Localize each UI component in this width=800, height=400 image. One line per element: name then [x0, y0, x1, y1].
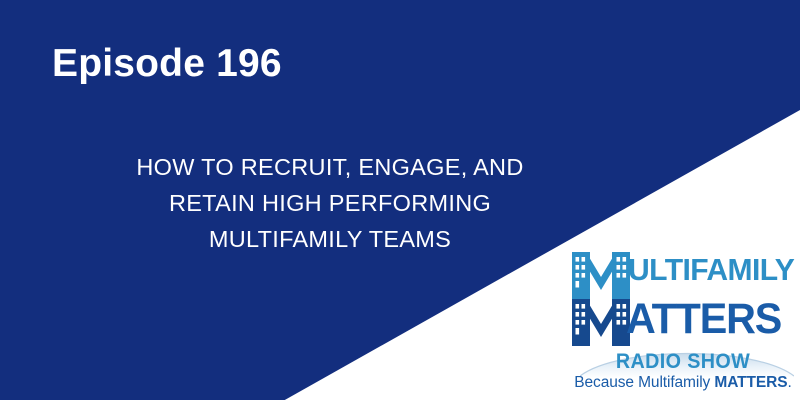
building-m-bottom-icon	[572, 299, 630, 346]
tagline-bold-word: MATTERS	[714, 374, 787, 391]
episode-title-line-3: MULTIFAMILY TEAMS	[40, 222, 620, 258]
building-m-top-icon	[572, 252, 630, 299]
logo-word-matters: ATTERS	[626, 298, 781, 341]
episode-number-heading: Episode 196	[52, 42, 282, 87]
logo-subtitle-radio-show: RADIO SHOW	[577, 350, 789, 374]
logo-wordmark: ULTIFAMILY ATTERS	[570, 252, 796, 352]
logo-word-multifamily: ULTIFAMILY	[628, 254, 794, 285]
episode-title-line-1: HOW TO RECRUIT, ENGAGE, AND	[40, 150, 620, 186]
episode-title-line-2: RETAIN HIGH PERFORMING	[40, 186, 620, 222]
multifamily-matters-logo: ULTIFAMILY ATTERS RADIO SHOW Because Mul…	[570, 252, 796, 392]
episode-title-text: HOW TO RECRUIT, ENGAGE, AND RETAIN HIGH …	[40, 150, 620, 258]
tagline-prefix: Because Multifamily	[574, 374, 714, 391]
podcast-episode-slide: Episode 196 HOW TO RECRUIT, ENGAGE, AND …	[0, 0, 800, 400]
tagline-suffix: .	[787, 374, 791, 391]
logo-tagline: Because Multifamily MATTERS.	[570, 374, 796, 392]
